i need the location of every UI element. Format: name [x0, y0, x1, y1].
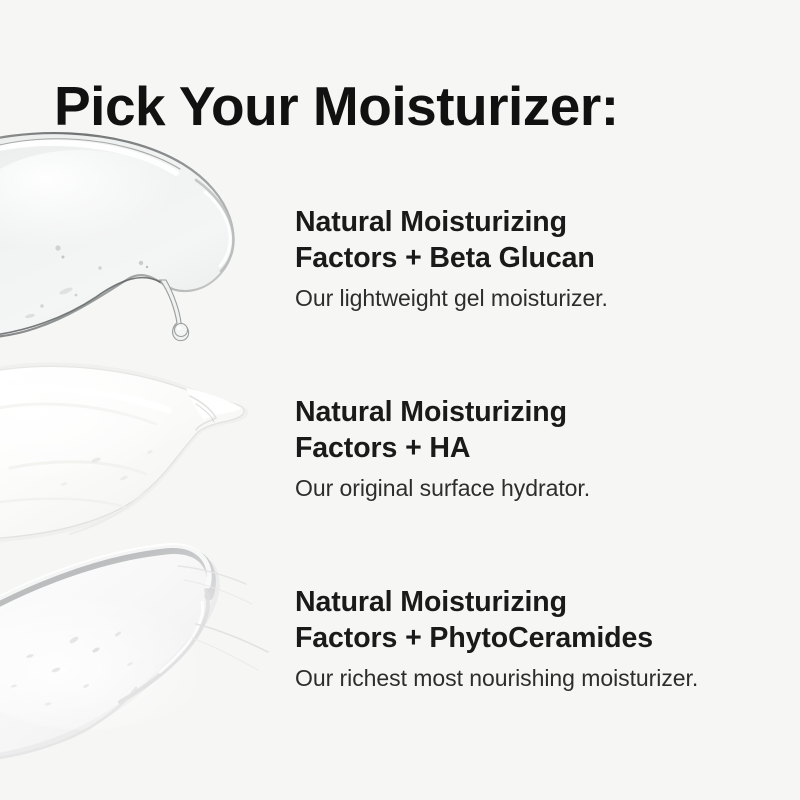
product-name: Natural Moisturizing Factors + PhytoCera…	[295, 585, 765, 656]
product-row[interactable]: Natural Moisturizing Factors + PhytoCera…	[0, 528, 800, 768]
product-name-line-2: Factors + PhytoCeramides	[295, 622, 653, 654]
product-selector-page: Pick Your Moisturizer:	[0, 0, 800, 800]
product-text-block: Natural Moisturizing Factors + PhytoCera…	[295, 585, 765, 693]
product-row[interactable]: Natural Moisturizing Factors + Beta Gluc…	[0, 120, 800, 350]
product-text-block: Natural Moisturizing Factors + Beta Gluc…	[295, 205, 765, 313]
product-name-line-1: Natural Moisturizing	[295, 586, 567, 618]
clear-gel-swatch	[0, 120, 290, 350]
product-name-line-2: Factors + Beta Glucan	[295, 242, 595, 274]
product-row[interactable]: Natural Moisturizing Factors + HA Our or…	[0, 352, 800, 548]
rich-cream-swatch	[0, 528, 290, 768]
product-description: Our lightweight gel moisturizer.	[295, 283, 765, 313]
product-name: Natural Moisturizing Factors + HA	[295, 395, 765, 466]
product-name-line-1: Natural Moisturizing	[295, 206, 567, 238]
product-description: Our original surface hydrator.	[295, 473, 765, 503]
product-name-line-1: Natural Moisturizing	[295, 396, 567, 428]
white-cream-swatch	[0, 352, 290, 548]
product-name: Natural Moisturizing Factors + Beta Gluc…	[295, 205, 765, 276]
product-name-line-2: Factors + HA	[295, 432, 470, 464]
product-text-block: Natural Moisturizing Factors + HA Our or…	[295, 395, 765, 503]
product-description: Our richest most nourishing moisturizer.	[295, 663, 765, 693]
